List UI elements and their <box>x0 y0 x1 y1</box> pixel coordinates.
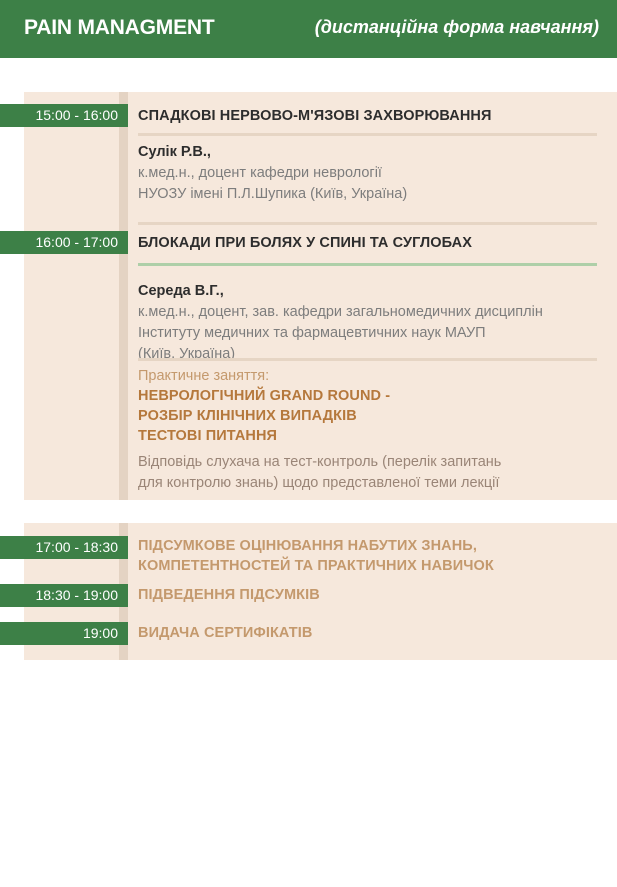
practical-separator <box>138 358 597 361</box>
session-title-1: СПАДКОВІ НЕРВОВО-М'ЯЗОВІ ЗАХВОРЮВАННЯ <box>138 106 603 126</box>
speaker-block-2: Середа В.Г., к.мед.н., доцент, зав. кафе… <box>138 281 603 365</box>
closing-title-line: ВИДАЧА СЕРТИФІКАТІВ <box>138 623 603 643</box>
practical-note-line: Відповідь слухача на тест-контроль (пере… <box>138 452 603 473</box>
session-time-badge-2: 16:00 - 17:00 <box>0 231 128 254</box>
speaker-affiliation-line: НУОЗУ імені П.Л.Шупика (Київ, Україна) <box>138 184 603 205</box>
practical-heading-line: ТЕСТОВІ ПИТАННЯ <box>138 426 603 446</box>
closing-title-2: ПІДВЕДЕННЯ ПІДСУМКІВ <box>138 585 603 605</box>
speaker-affiliation-line: (Київ, Україна) <box>138 344 603 365</box>
session-separator-2 <box>138 222 597 225</box>
speaker-affiliation-line: к.мед.н., доцент кафедри неврології <box>138 163 603 184</box>
closing-title-line: ПІДСУМКОВЕ ОЦІНЮВАННЯ НАБУТИХ ЗНАНЬ, <box>138 536 603 556</box>
session-time-badge-1: 15:00 - 16:00 <box>0 104 128 127</box>
header-subtitle: (дистанційна форма навчання) <box>315 17 599 38</box>
speaker-affiliation-line: к.мед.н., доцент, зав. кафедри загальном… <box>138 302 603 323</box>
closing-time-badge-3: 19:00 <box>0 622 128 645</box>
speaker-affiliation-line: Інституту медичних та фармацевтичних нау… <box>138 323 603 344</box>
session-separator-3 <box>138 263 597 266</box>
closing-time-badge-1: 17:00 - 18:30 <box>0 536 128 559</box>
practical-note-line: для контролю знань) щодо представленої т… <box>138 473 603 494</box>
schedule-page: PAIN MANAGMENT (дистанційна форма навчан… <box>0 0 617 887</box>
page-title: PAIN MANAGMENT <box>24 16 214 40</box>
page-header: PAIN MANAGMENT (дистанційна форма навчан… <box>0 0 617 58</box>
closing-title-3: ВИДАЧА СЕРТИФІКАТІВ <box>138 623 603 643</box>
closing-title-line: ПІДВЕДЕННЯ ПІДСУМКІВ <box>138 585 603 605</box>
session-separator-1 <box>138 133 597 136</box>
closing-title-1: ПІДСУМКОВЕ ОЦІНЮВАННЯ НАБУТИХ ЗНАНЬ, КОМ… <box>138 536 603 576</box>
practical-label: Практичне заняття: <box>138 366 603 386</box>
session-title-2: БЛОКАДИ ПРИ БОЛЯХ У СПИНІ ТА СУГЛОБАХ <box>138 233 603 253</box>
panel-vertical-divider <box>119 92 128 500</box>
practical-block: Практичне заняття: НЕВРОЛОГІЧНИЙ GRAND R… <box>138 366 603 494</box>
speaker-block-1: Сулік Р.В., к.мед.н., доцент кафедри нев… <box>138 142 603 205</box>
closing-title-line: КОМПЕТЕНТНОСТЕЙ ТА ПРАКТИЧНИХ НАВИЧОК <box>138 556 603 576</box>
closing-time-badge-2: 18:30 - 19:00 <box>0 584 128 607</box>
speaker-name-2: Середа В.Г., <box>138 281 603 302</box>
practical-heading-line: РОЗБІР КЛІНІЧНИХ ВИПАДКІВ <box>138 406 603 426</box>
speaker-name-1: Сулік Р.В., <box>138 142 603 163</box>
practical-heading-line: НЕВРОЛОГІЧНИЙ GRAND ROUND - <box>138 386 603 406</box>
